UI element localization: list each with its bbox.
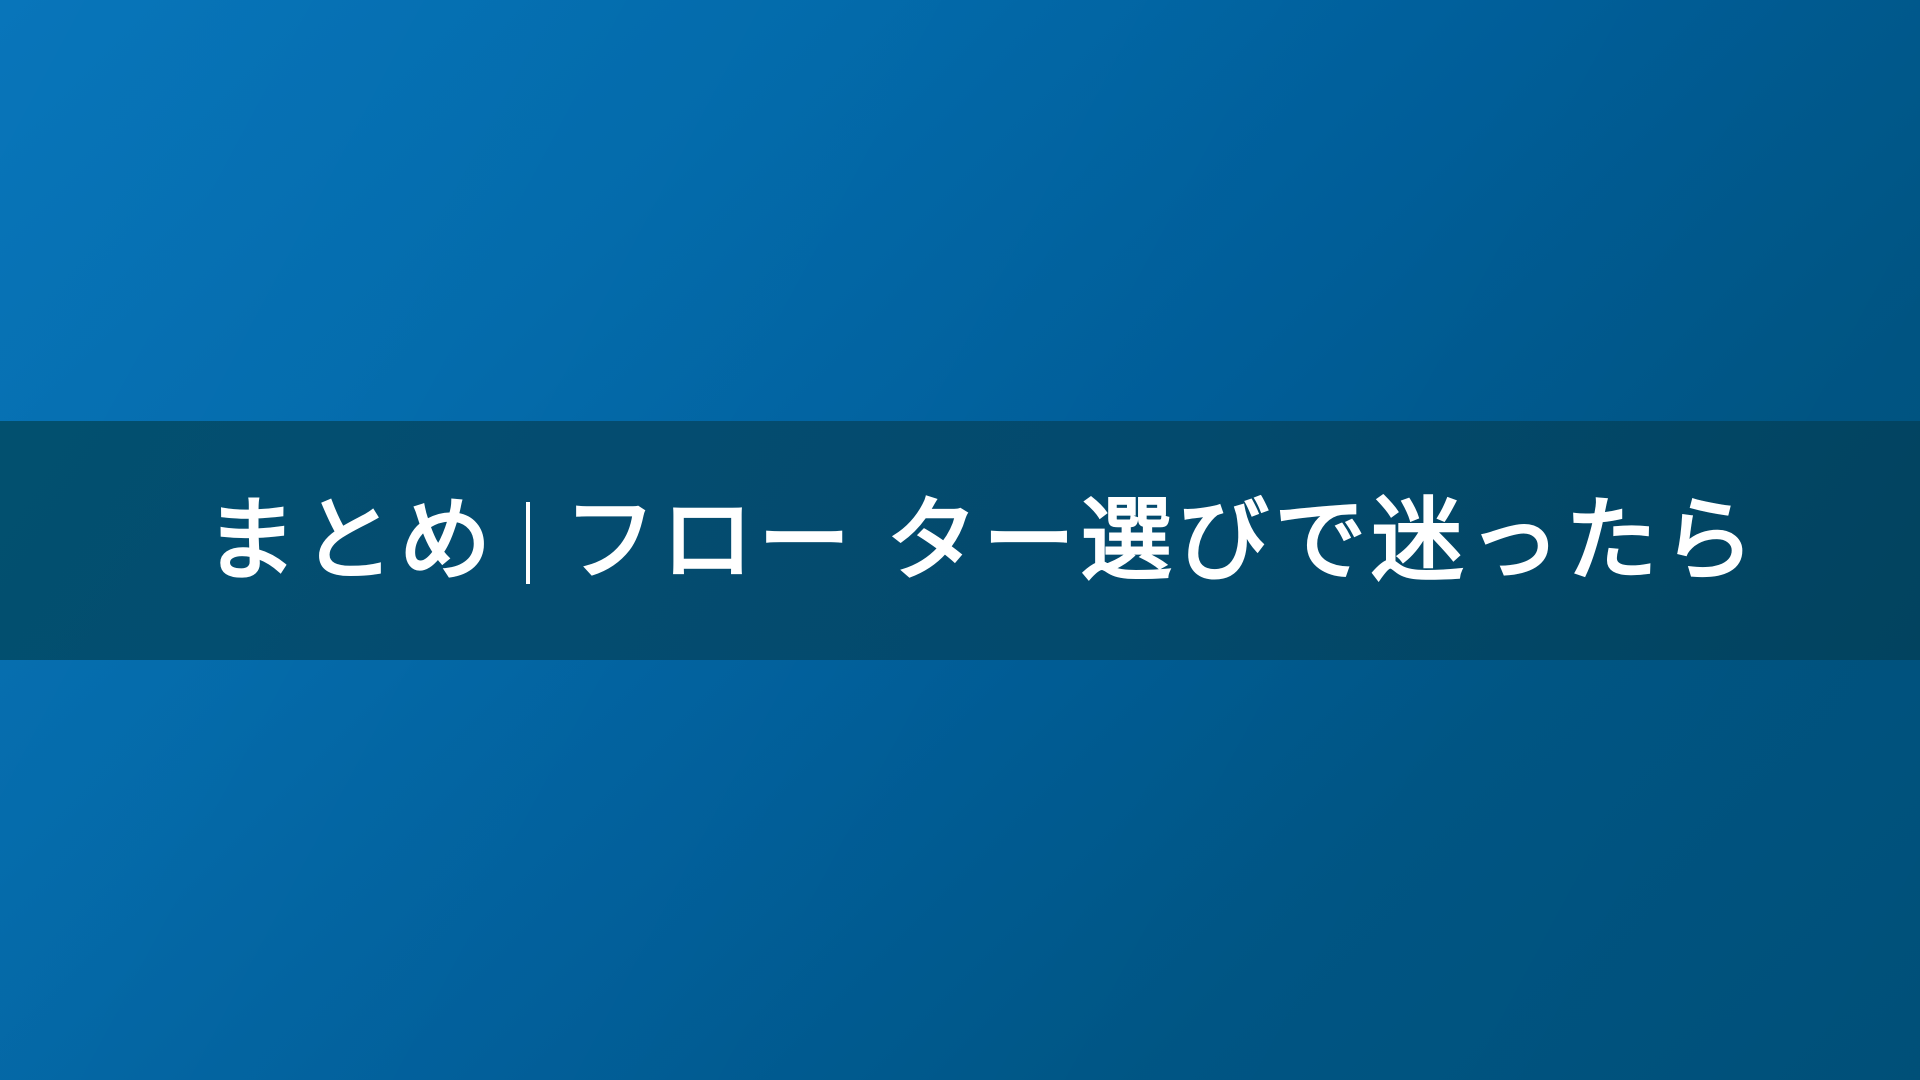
title-band: まとめ フロー ター選びで迷ったら (0, 421, 1920, 660)
title-slide: まとめ フロー ター選びで迷ったら (0, 0, 1920, 1080)
title-subject-text: フロー ター選びで迷ったら (564, 495, 1759, 587)
title-lead-text: まとめ (205, 495, 496, 587)
page-title: まとめ フロー ター選びで迷ったら (205, 495, 1760, 587)
title-separator-bar (526, 502, 530, 584)
